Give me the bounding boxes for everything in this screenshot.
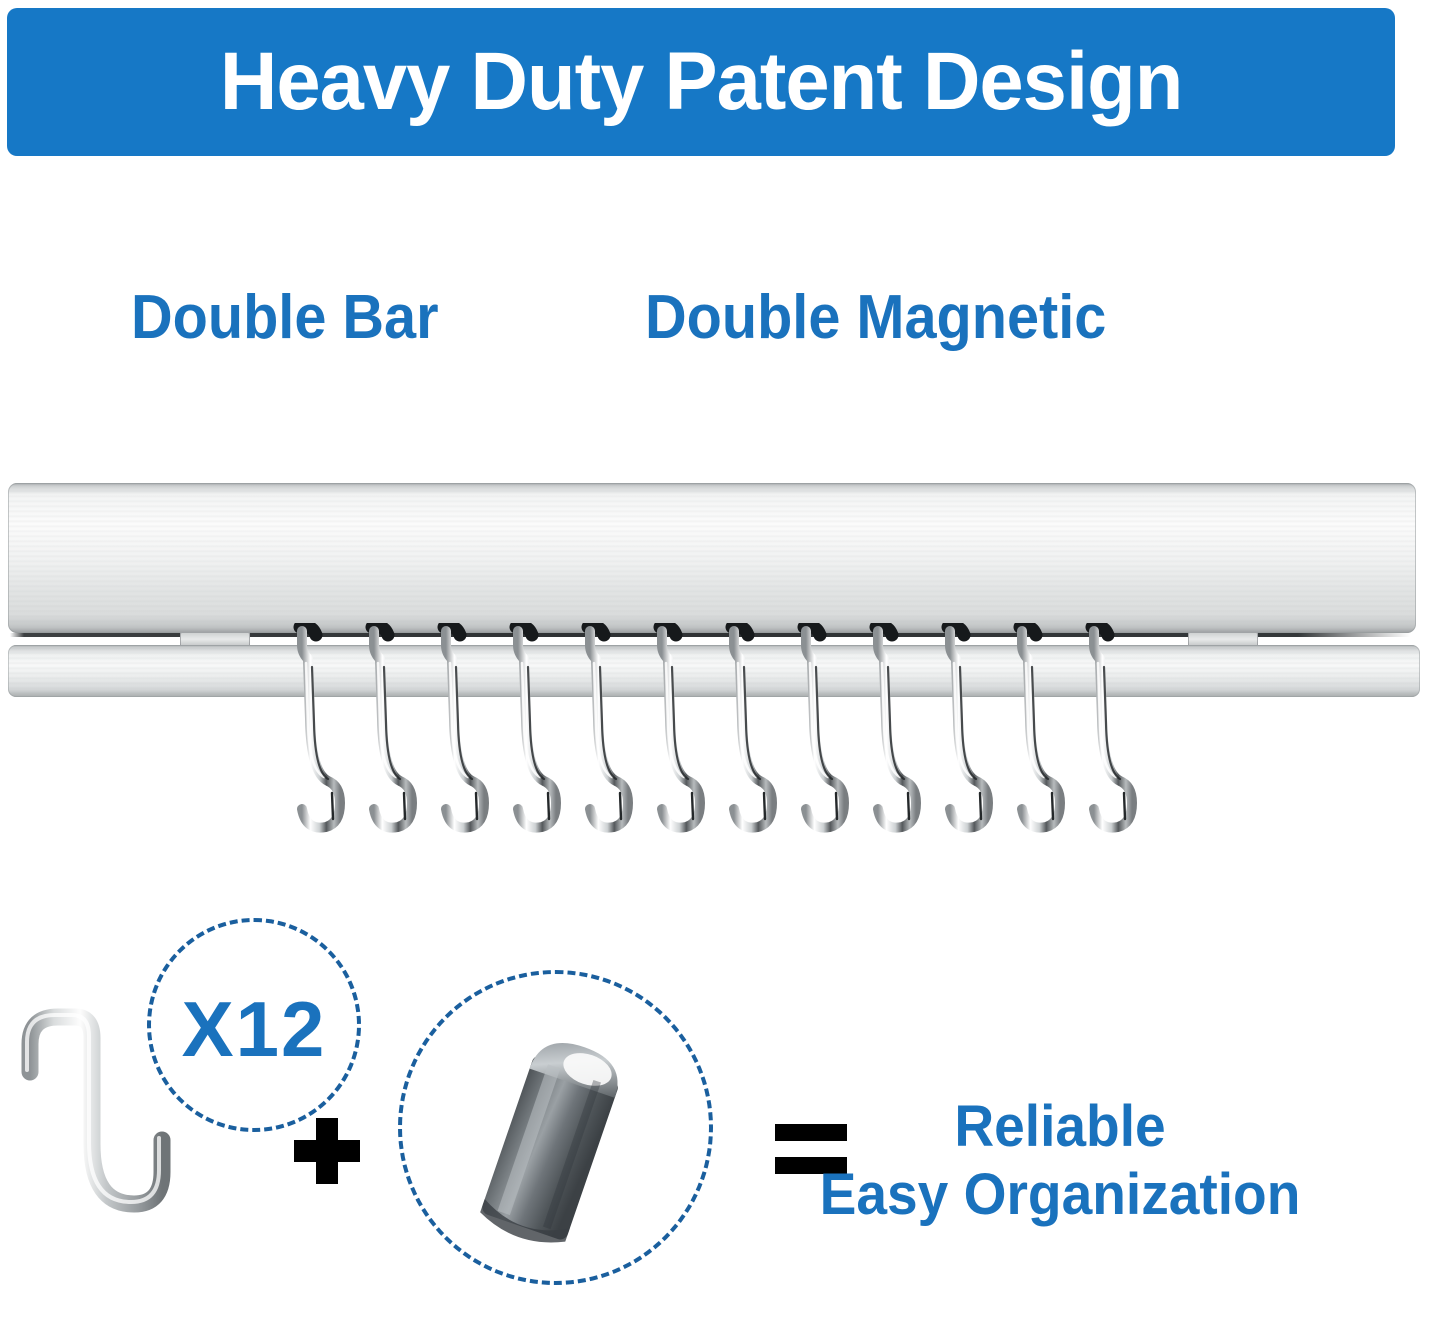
hanging-s-hook xyxy=(432,623,492,848)
plus-vertical-bar xyxy=(316,1118,338,1184)
header-banner: Heavy Duty Patent Design xyxy=(7,8,1395,156)
page-title: Heavy Duty Patent Design xyxy=(220,41,1182,123)
hanging-s-hook xyxy=(576,623,636,848)
infographic-page: Heavy Duty Patent Design Double Bar Doub… xyxy=(0,0,1445,1318)
feature-label-double-bar: Double Bar xyxy=(131,287,439,349)
hanging-s-hook xyxy=(504,623,564,848)
hanging-s-hook xyxy=(864,623,924,848)
result-line-2: Easy Organization xyxy=(699,1161,1421,1229)
magnet-pin-icon xyxy=(462,1018,647,1248)
feature-label-double-magnetic: Double Magnetic xyxy=(645,287,1106,349)
hanging-s-hook xyxy=(648,623,708,848)
hook-row xyxy=(0,455,1445,885)
hanging-s-hook xyxy=(792,623,852,848)
hanging-s-hook xyxy=(360,623,420,848)
hanging-s-hook xyxy=(1080,623,1140,848)
result-text: Reliable Easy Organization xyxy=(680,1093,1440,1230)
hanging-s-hook xyxy=(1008,623,1068,848)
hanging-s-hook xyxy=(288,623,348,848)
hanging-s-hook xyxy=(936,623,996,848)
product-rack-illustration xyxy=(0,455,1445,885)
result-line-1: Reliable xyxy=(699,1093,1421,1161)
plus-operator-icon xyxy=(294,1118,360,1184)
hanging-s-hook xyxy=(720,623,780,848)
hook-quantity-label: X12 xyxy=(147,990,361,1068)
